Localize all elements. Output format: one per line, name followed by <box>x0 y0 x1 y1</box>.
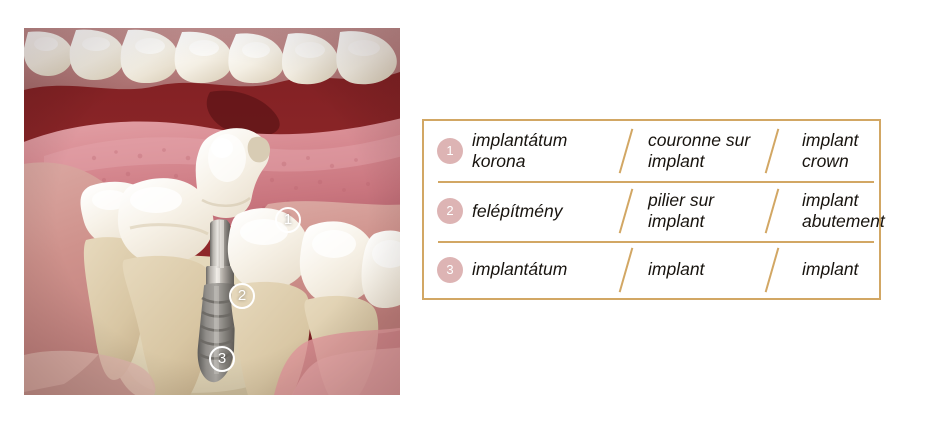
separator-slash-icon <box>764 128 780 174</box>
legend-badge-2: 2 <box>437 198 463 224</box>
legend-cell-hungarian: implantátum <box>472 259 618 280</box>
separator-slash-icon <box>618 247 634 293</box>
legend-badge-1: 1 <box>437 138 463 164</box>
legend-row: 2 felépítmény pilier sur implant implant… <box>424 181 879 241</box>
legend-cell-english: implant <box>780 259 879 280</box>
image-marker-3[interactable]: 3 <box>209 346 235 372</box>
legend-cell-hungarian: implantátum korona <box>472 130 618 172</box>
image-marker-1[interactable]: 1 <box>275 207 301 233</box>
legend-cell-hungarian: felépítmény <box>472 201 618 222</box>
separator-slash-icon <box>764 188 780 234</box>
legend-row: 1 implantátum korona couronne sur implan… <box>424 121 879 181</box>
image-marker-2[interactable]: 2 <box>229 283 255 309</box>
implant-parts-legend: 1 implantátum korona couronne sur implan… <box>422 119 881 300</box>
dental-implant-illustration: 1 2 3 <box>24 28 400 395</box>
legend-cell-english: implant crown <box>780 130 879 172</box>
separator-slash-icon <box>618 128 634 174</box>
legend-cell-french: couronne sur implant <box>634 130 764 172</box>
dental-illustration-artwork <box>24 28 400 395</box>
separator-slash-icon <box>618 188 634 234</box>
separator-slash-icon <box>764 247 780 293</box>
legend-cell-french: pilier sur implant <box>634 190 764 232</box>
legend-badge-3: 3 <box>437 257 463 283</box>
legend-row: 3 implantátum implant implant <box>424 241 879 298</box>
legend-cell-french: implant <box>634 259 764 280</box>
legend-cell-english: implant abutement <box>780 190 885 232</box>
